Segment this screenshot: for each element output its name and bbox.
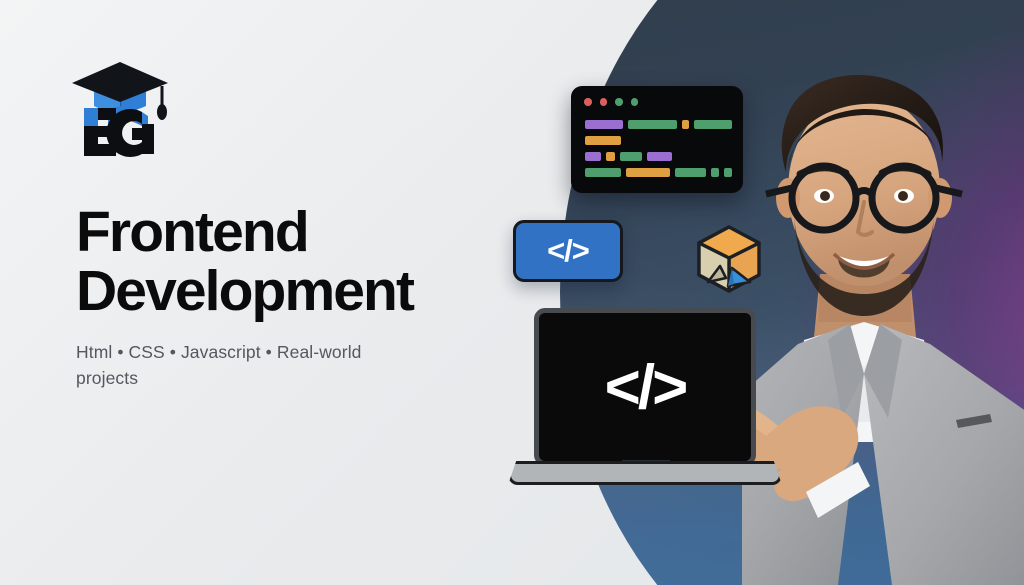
code-token-bar [647, 152, 672, 161]
course-banner: Frontend Development Html • CSS • Javasc… [0, 0, 1024, 585]
code-token-bar [585, 168, 621, 177]
code-tag-chip: </> [513, 220, 623, 282]
code-line [585, 120, 732, 129]
code-token-bar [675, 168, 706, 177]
laptop-screen-code-label: </> [539, 313, 751, 461]
code-token-bar [711, 168, 719, 177]
page-subtitle: Html • CSS • Javascript • Real-world pro… [76, 340, 421, 392]
code-lines [585, 120, 732, 184]
code-line [585, 168, 732, 177]
code-line [585, 136, 732, 145]
laptop-base [508, 461, 782, 485]
code-token-bar [724, 168, 732, 177]
code-token-bar [585, 152, 601, 161]
laptop-device: </> [498, 300, 790, 500]
code-editor-window [571, 86, 743, 193]
code-token-bar [620, 152, 642, 161]
traffic-light-green [615, 98, 623, 106]
code-token-bar [682, 120, 690, 129]
code-line [585, 152, 732, 161]
title-line-1: Frontend [76, 200, 308, 264]
graduation-cap-eg-logo [68, 56, 172, 162]
code-token-bar [626, 168, 670, 177]
traffic-light-green-2 [631, 98, 639, 106]
traffic-light-red [584, 98, 592, 106]
laptop-screen: </> [534, 308, 756, 466]
code-tag-chip-label: </> [547, 233, 589, 269]
page-title: Frontend Development [76, 203, 546, 322]
code-token-bar [585, 120, 623, 129]
code-token-bar [628, 120, 677, 129]
3d-cube-package-icon [692, 222, 766, 296]
code-token-bar [585, 136, 621, 145]
window-traffic-lights [584, 98, 638, 106]
left-content-column: Frontend Development Html • CSS • Javasc… [0, 0, 560, 585]
code-token-bar [606, 152, 615, 161]
traffic-light-red-2 [600, 98, 608, 106]
code-token-bar [694, 120, 732, 129]
title-line-2: Development [76, 262, 546, 321]
